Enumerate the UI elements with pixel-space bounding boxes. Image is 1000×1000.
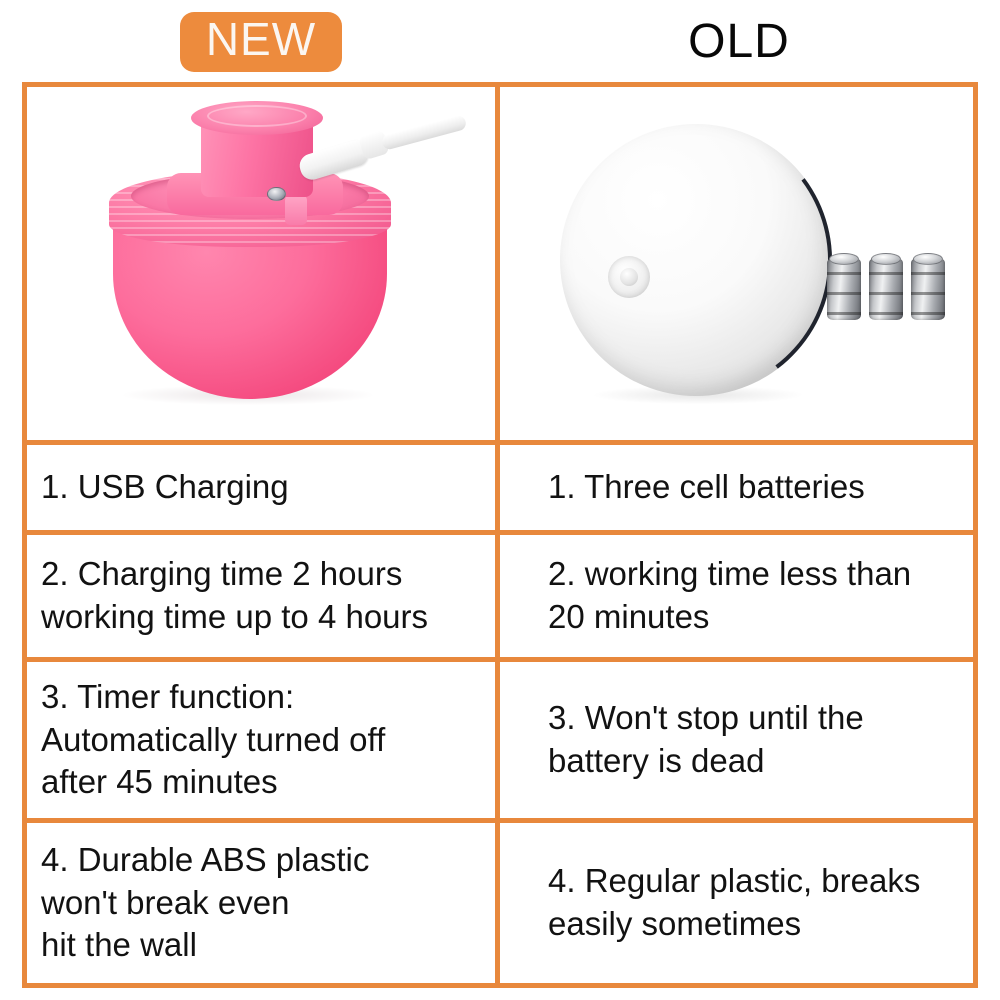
header-cell-old: OLD bbox=[500, 0, 978, 82]
new-feature-2: 2. Charging time 2 hours working time up… bbox=[27, 535, 500, 657]
usb-cable-cord bbox=[381, 114, 468, 151]
battery-cell bbox=[827, 258, 861, 320]
feature-row-4: 4. Durable ABS plastic won't break even … bbox=[27, 823, 973, 983]
feature-row-1: 1. USB Charging 1. Three cell batteries bbox=[27, 445, 973, 535]
pink-ball-tower-cap-groove bbox=[207, 105, 307, 127]
white-ball-seam bbox=[542, 106, 849, 413]
old-feature-4: 4. Regular plastic, breaks easily someti… bbox=[500, 823, 973, 983]
old-feature-1: 1. Three cell batteries bbox=[500, 445, 973, 530]
old-product-image bbox=[500, 87, 973, 440]
pink-ball-screw bbox=[267, 187, 286, 201]
old-feature-3: 3. Won't stop until the battery is dead bbox=[500, 662, 973, 818]
new-product-image bbox=[27, 87, 495, 440]
new-badge: NEW bbox=[180, 12, 342, 72]
comparison-table: 1. USB Charging 1. Three cell batteries … bbox=[22, 82, 978, 988]
feature-row-2: 2. Charging time 2 hours working time up… bbox=[27, 535, 973, 662]
old-label: OLD bbox=[688, 16, 790, 69]
pink-ball-latch-tab bbox=[285, 195, 307, 225]
white-ball-button-dot bbox=[620, 268, 638, 286]
white-ball-graphic bbox=[546, 114, 846, 414]
new-feature-4: 4. Durable ABS plastic won't break even … bbox=[27, 823, 500, 983]
new-feature-3: 3. Timer function: Automatically turned … bbox=[27, 662, 500, 818]
battery-cell bbox=[869, 258, 903, 320]
feature-row-3: 3. Timer function: Automatically turned … bbox=[27, 662, 973, 823]
new-product-image-cell bbox=[27, 87, 500, 440]
new-feature-1: 1. USB Charging bbox=[27, 445, 500, 530]
pink-ball-graphic bbox=[61, 99, 461, 429]
battery-group bbox=[827, 258, 945, 320]
old-product-image-cell bbox=[500, 87, 973, 440]
product-image-row bbox=[27, 87, 973, 445]
battery-cell bbox=[911, 258, 945, 320]
comparison-header: NEW OLD bbox=[22, 0, 978, 82]
old-feature-2: 2. working time less than 20 minutes bbox=[500, 535, 973, 657]
header-cell-new: NEW bbox=[22, 0, 500, 82]
